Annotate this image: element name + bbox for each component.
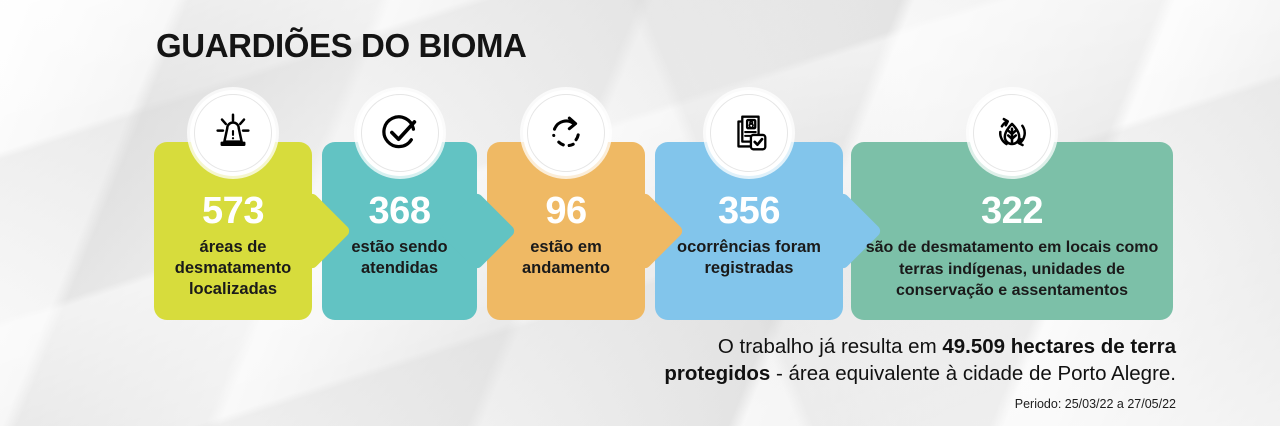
footer-summary: O trabalho já resulta em 49.509 hectares… (516, 333, 1176, 411)
check-circle-icon (357, 90, 443, 176)
stat-number: 368 (330, 192, 469, 230)
stat-number: 322 (859, 192, 1165, 230)
footer-text-hectares: 49.509 hectares de terra (942, 335, 1176, 358)
stat-label: ocorrências foram registradas (663, 237, 835, 279)
leaf-recycle-icon (969, 90, 1055, 176)
footer-text-rest: - área equivalente à cidade de Porto Ale… (770, 362, 1176, 385)
stat-label: áreas de desmatamento localizadas (162, 237, 304, 300)
footer-line-1: O trabalho já resulta em 49.509 hectares… (516, 333, 1176, 360)
stat-block-1[interactable]: 573 áreas de desmatamento localizadas (154, 142, 312, 320)
period-label: Periodo: 25/03/22 a 27/05/22 (516, 397, 1176, 411)
stat-number: 573 (162, 192, 304, 230)
stat-block-5[interactable]: 322 são de desmatamento em locais como t… (851, 142, 1173, 320)
stat-label: estão em andamento (495, 237, 637, 279)
stat-number: 96 (495, 192, 637, 230)
footer-text-protegidos: protegidos (664, 362, 770, 385)
stat-block-3[interactable]: 96 estão em andamento (487, 142, 645, 320)
refresh-progress-icon (523, 90, 609, 176)
stat-number: 356 (663, 192, 835, 230)
infographic-stage: GUARDIÕES DO BIOMA 573 á (0, 0, 1280, 426)
stat-label: são de desmatamento em locais como terra… (859, 237, 1165, 302)
footer-text-pre: O trabalho já resulta em (718, 335, 942, 358)
footer-line-2: protegidos - área equivalente à cidade d… (516, 360, 1176, 387)
stat-block-4[interactable]: 356 ocorrências foram registradas (655, 142, 843, 320)
siren-icon (190, 90, 276, 176)
document-check-icon (706, 90, 792, 176)
stat-block-2[interactable]: 368 estão sendo atendidas (322, 142, 477, 320)
stat-label: estão sendo atendidas (330, 237, 469, 279)
